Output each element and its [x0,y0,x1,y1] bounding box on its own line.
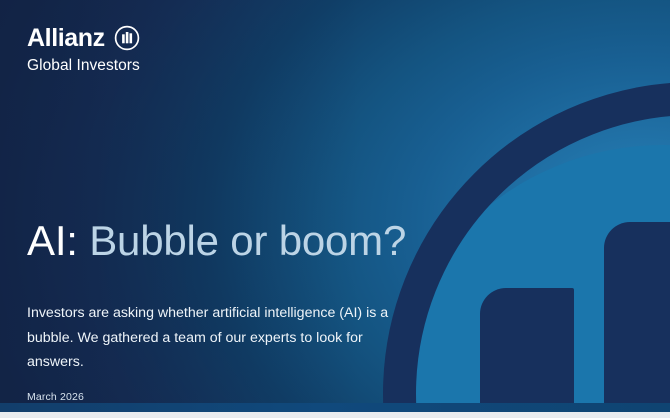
logo-bar-left-shape [480,288,574,412]
brand-lockup: Allianz Global Investors [27,24,287,76]
page-subtitle: Investors are asking whether artificial … [27,301,399,375]
page-title-rest: Bubble or boom? [78,217,406,264]
brand-name: Allianz [27,25,105,51]
publication-date: March 2026 [27,390,84,404]
brand-primary-row: Allianz [27,24,287,52]
footer-band [0,403,670,412]
title-slide: Allianz Global Investors AI: Bubble or b… [0,0,670,418]
brand-division: Global Investors [27,56,287,76]
allianz-bars-circle-icon [114,25,140,51]
page-title-lead: AI: [27,217,78,264]
footer-rule [0,412,670,418]
page-title: AI: Bubble or boom? [27,216,406,266]
logo-bar-right-shape [604,222,670,412]
